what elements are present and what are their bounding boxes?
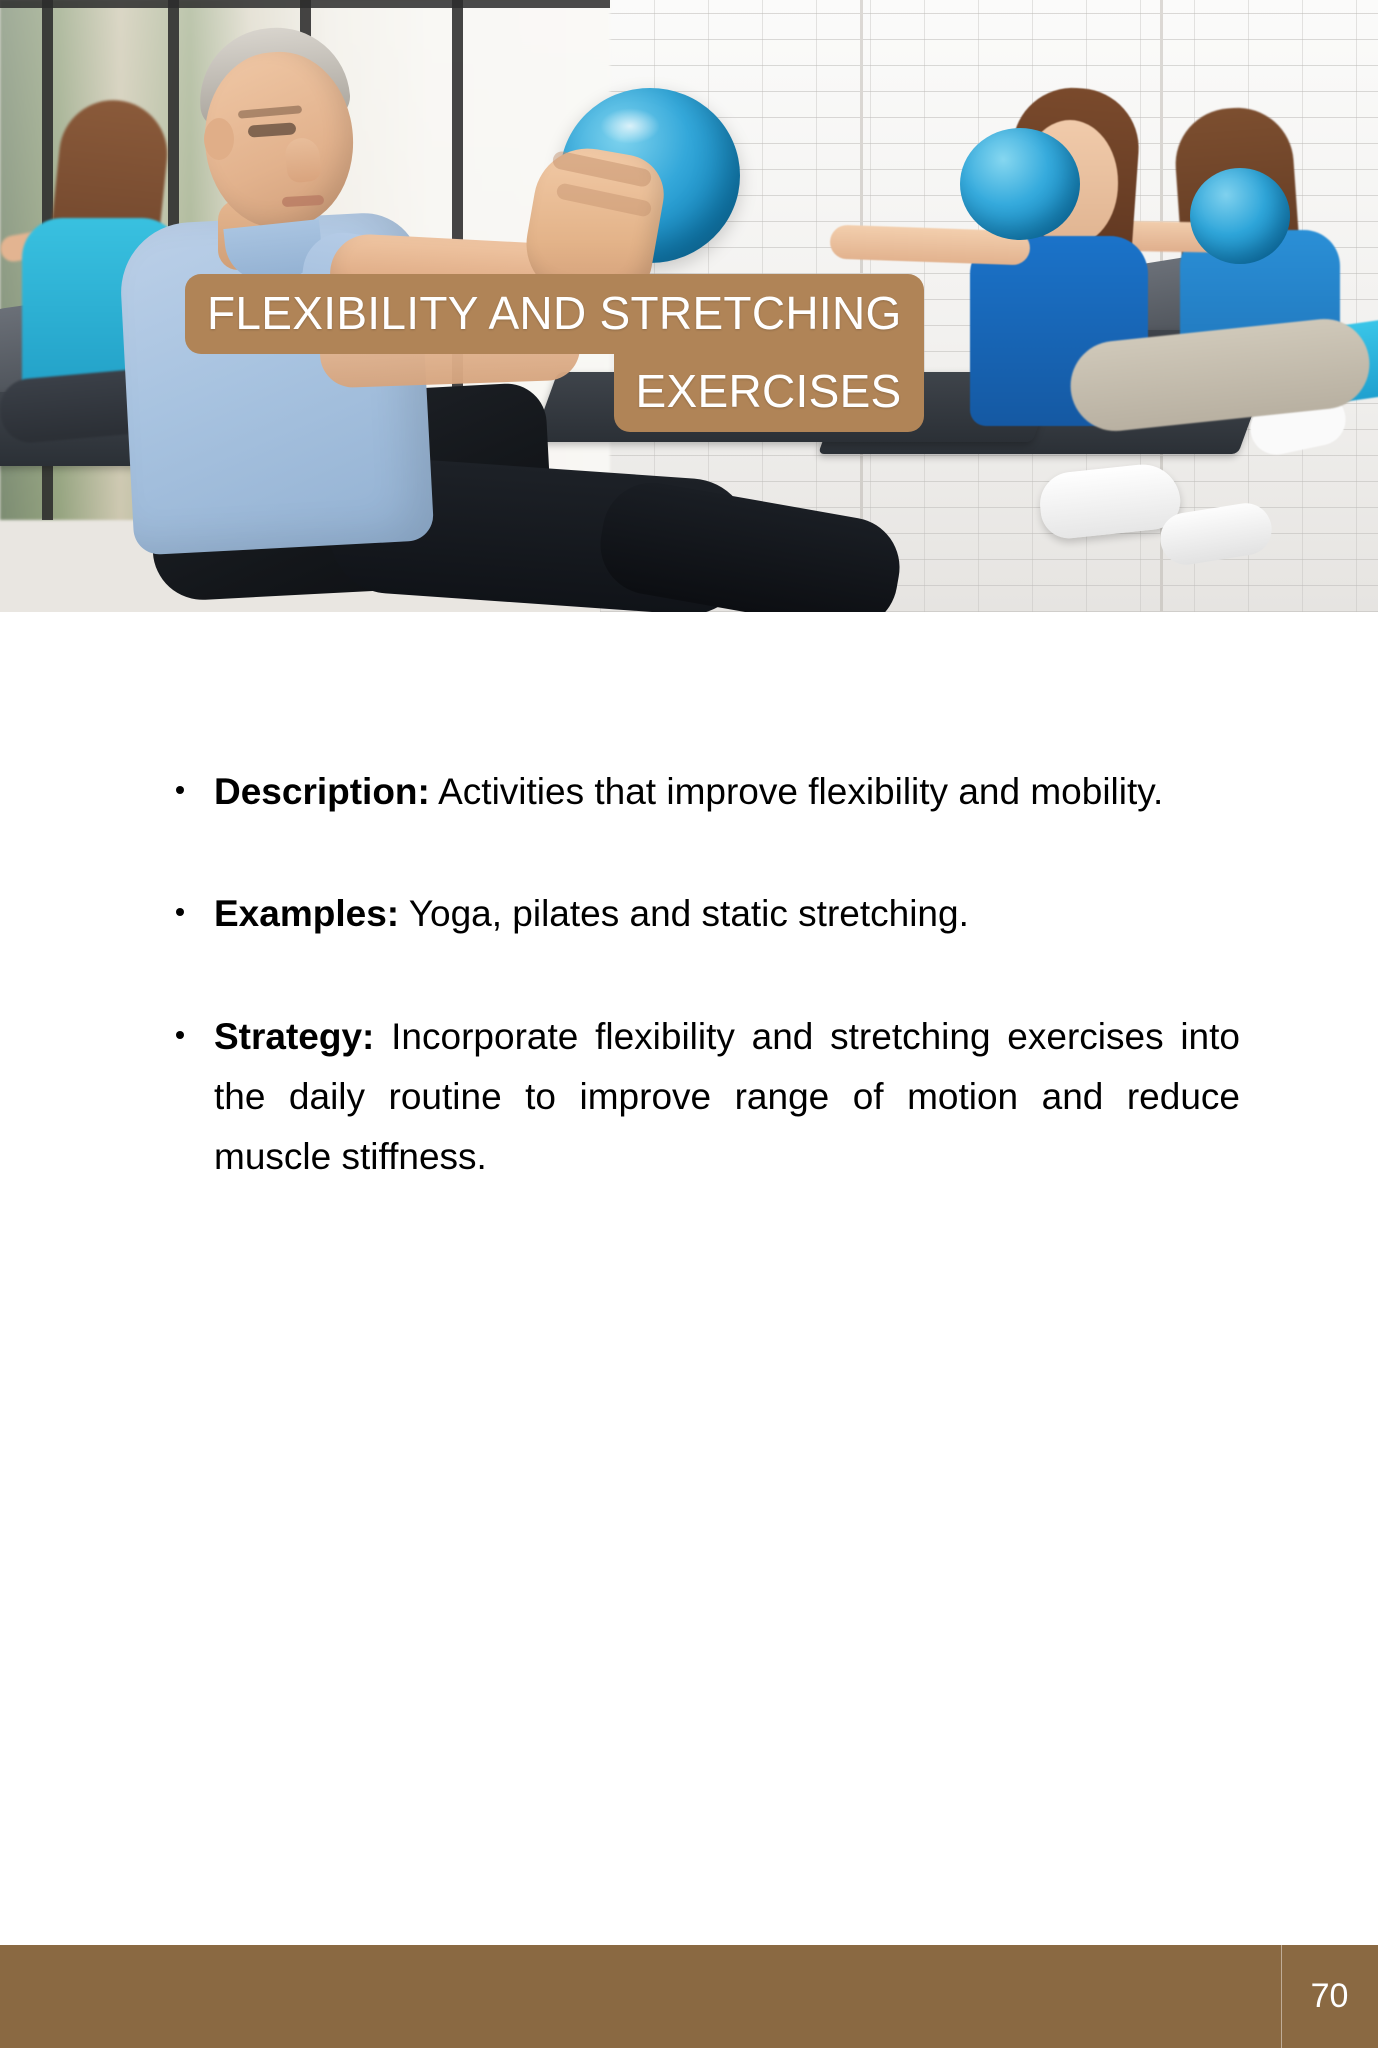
bullet-text-examples: Yoga, pilates and static stretching. — [409, 893, 969, 934]
bullet-dot-icon — [176, 786, 184, 794]
slide-title-line-2: EXERCISES — [614, 352, 924, 432]
slide-body: Description: Activities that improve fle… — [0, 612, 1378, 1945]
page-number: 70 — [1281, 1945, 1378, 2048]
bullet-list: Description: Activities that improve fle… — [168, 762, 1240, 1187]
bullet-dot-icon — [176, 1031, 184, 1039]
bullet-label-examples: Examples: — [214, 893, 399, 934]
slide-title-line-1: FLEXIBILITY AND STRETCHING — [185, 274, 924, 354]
bullet-item-description: Description: Activities that improve fle… — [168, 762, 1240, 822]
bullet-text-description: Activities that improve flexibility and … — [438, 771, 1163, 812]
exercise-ball-large-highlight — [600, 108, 660, 144]
bullet-label-strategy: Strategy: — [214, 1016, 374, 1057]
bullet-label-description: Description: — [214, 771, 430, 812]
man-ear — [204, 118, 234, 160]
exercise-ball-medium — [960, 128, 1080, 240]
footer-bar: 70 — [0, 1945, 1378, 2048]
slide-title-banner: FLEXIBILITY AND STRETCHING EXERCISES — [185, 274, 924, 432]
hero-image: FLEXIBILITY AND STRETCHING EXERCISES — [0, 0, 1378, 612]
exercise-ball-small — [1190, 168, 1290, 264]
bullet-item-strategy: Strategy: Incorporate flexibility and st… — [168, 1007, 1240, 1188]
bullet-item-examples: Examples: Yoga, pilates and static stret… — [168, 884, 1240, 944]
bullet-dot-icon — [176, 908, 184, 916]
